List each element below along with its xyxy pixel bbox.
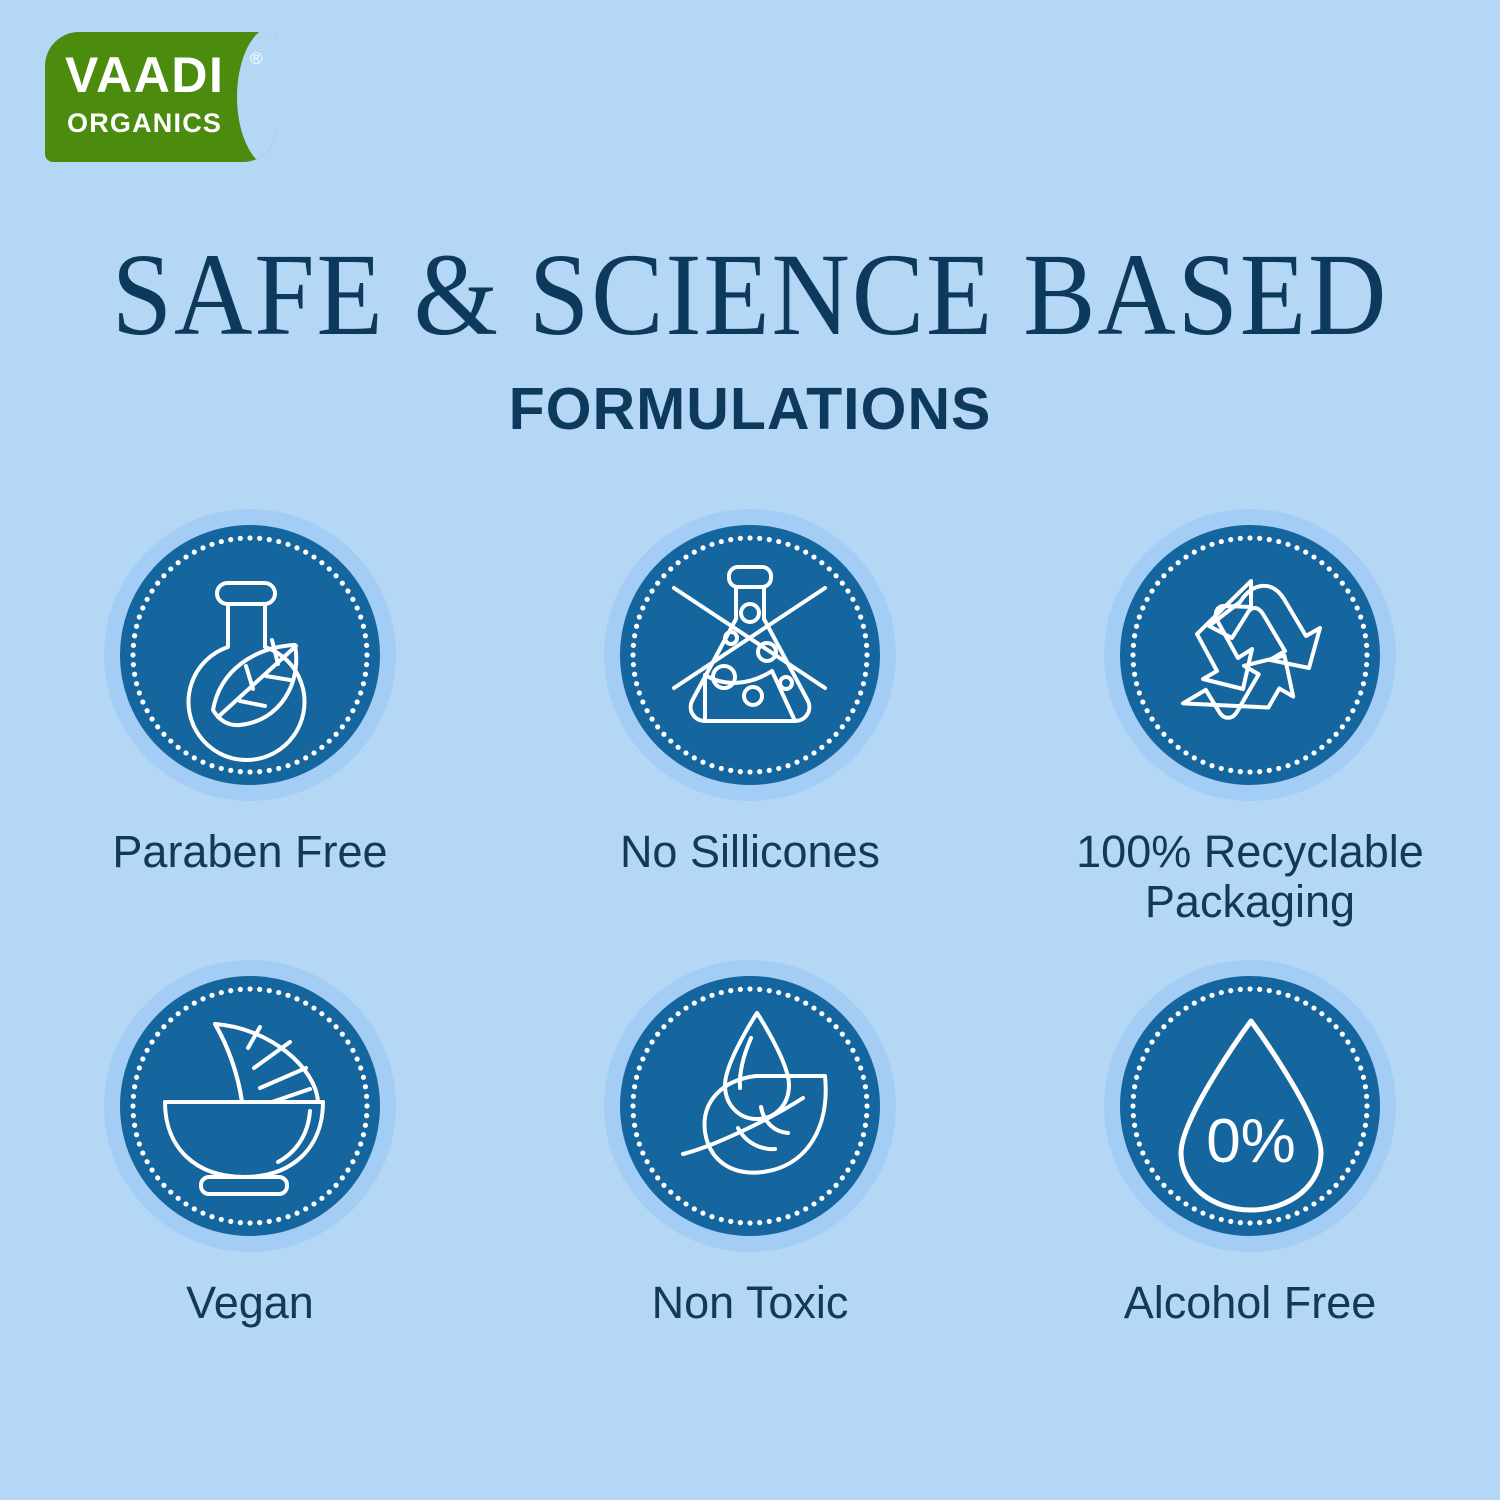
no-silicones-flask-icon	[620, 525, 880, 785]
feature-badge	[100, 505, 400, 805]
brand-subtext: ORGANICS	[67, 110, 222, 137]
brand-wordmark: VAADI	[65, 50, 224, 100]
droplet-zero-text: 0%	[1206, 1107, 1296, 1176]
feature-grid: Paraben Free	[0, 505, 1500, 1328]
feature-badge	[600, 956, 900, 1256]
brand-logo: VAADI ® ORGANICS	[45, 32, 277, 162]
dotted-ring	[130, 535, 369, 774]
bowl-leaf-icon	[120, 976, 380, 1236]
feature-label: Vegan	[186, 1278, 314, 1328]
feature-label: Paraben Free	[112, 827, 387, 877]
feature-item: Paraben Free	[0, 505, 500, 928]
feature-label: No Sillicones	[620, 827, 880, 877]
dotted-ring	[630, 535, 869, 774]
flask-leaf-icon	[120, 525, 380, 785]
feature-item: Non Toxic	[500, 956, 1000, 1328]
feature-label: Alcohol Free	[1124, 1278, 1377, 1328]
recycle-icon	[1120, 525, 1380, 785]
feature-item: 0% Alcohol Free	[1000, 956, 1500, 1328]
feature-item: 100% Recyclable Packaging	[1000, 505, 1500, 928]
heading-block: SAFE & SCIENCE BASED FORMULATIONS	[0, 236, 1500, 439]
feature-label: 100% Recyclable Packaging	[1035, 827, 1465, 928]
droplet-leaf-icon	[620, 976, 880, 1236]
feature-badge: 0%	[1100, 956, 1400, 1256]
droplet-zero-percent-icon: 0%	[1120, 976, 1380, 1236]
feature-badge	[1100, 505, 1400, 805]
feature-item: No Sillicones	[500, 505, 1000, 928]
page-subtitle: FORMULATIONS	[0, 380, 1500, 439]
registered-trademark-icon: ®	[250, 50, 263, 67]
feature-badge	[600, 505, 900, 805]
feature-item: Vegan	[0, 956, 500, 1328]
feature-badge	[100, 956, 400, 1256]
feature-label: Non Toxic	[652, 1278, 849, 1328]
page-title: SAFE & SCIENCE BASED	[60, 236, 1440, 354]
